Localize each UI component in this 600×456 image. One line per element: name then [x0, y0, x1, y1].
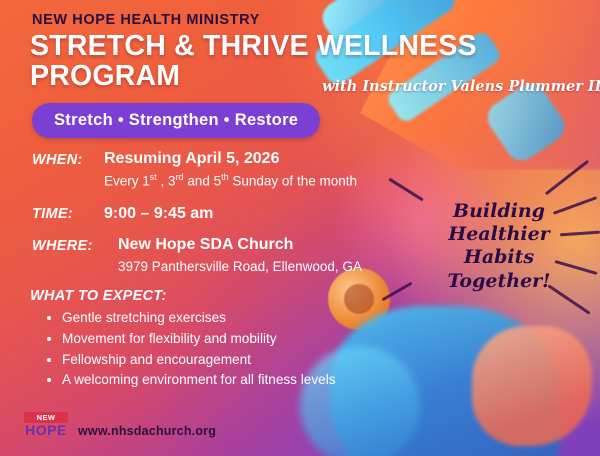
instructor-line: with Instructor Valens Plummer II — [322, 78, 600, 95]
what-to-expect-title: WHAT TO EXPECT: — [30, 288, 167, 304]
list-item: Movement for flexibility and mobility — [62, 329, 336, 350]
time-value: 9:00 – 9:45 am — [104, 205, 213, 223]
when-ord-1: st — [150, 172, 157, 182]
new-hope-logo: NEW HOPE — [24, 412, 68, 446]
when-sub-mid-2: and 5 — [184, 174, 222, 189]
when-label: WHEN: — [32, 152, 83, 168]
badge-line-2: Healthier — [424, 223, 574, 246]
badge-line-1: Building — [424, 200, 574, 223]
where-label: WHERE: — [32, 238, 93, 254]
website-url: www.nhsdachurch.org — [78, 424, 216, 438]
when-subvalue: Every 1st , 3rd and 5th Sunday of the mo… — [104, 172, 357, 189]
list-item: A welcoming environment for all fitness … — [62, 370, 336, 391]
when-ord-2: rd — [176, 172, 184, 182]
list-item: Gentle stretching exercises — [62, 308, 336, 329]
when-sub-prefix: Every 1 — [104, 174, 150, 189]
where-value: New Hope SDA Church — [118, 236, 293, 254]
badge-line-3: Habits — [424, 246, 574, 269]
poster-canvas: NEW HOPE HEALTH MINISTRY STRETCH & THRIV… — [0, 0, 600, 456]
what-to-expect-list: Gentle stretching exercises Movement for… — [44, 308, 336, 391]
tagline-pill: Stretch • Strengthen • Restore — [32, 103, 320, 138]
poster-content: NEW HOPE HEALTH MINISTRY STRETCH & THRIV… — [0, 0, 600, 456]
ministry-kicker: NEW HOPE HEALTH MINISTRY — [32, 12, 260, 28]
where-subvalue: 3979 Panthersville Road, Ellenwood, GA — [118, 259, 362, 274]
logo-bottom-text: HOPE — [24, 423, 68, 438]
when-ord-3: th — [221, 172, 229, 182]
time-label: TIME: — [32, 206, 73, 222]
when-sub-tail: Sunday of the month — [229, 174, 357, 189]
list-item: Fellowship and encouragement — [62, 350, 336, 371]
when-sub-mid-1: , 3 — [157, 174, 176, 189]
when-value: Resuming April 5, 2026 — [104, 150, 279, 168]
badge-line-4: Together! — [424, 270, 574, 293]
building-healthier-badge: Building Healthier Habits Together! — [424, 200, 574, 293]
